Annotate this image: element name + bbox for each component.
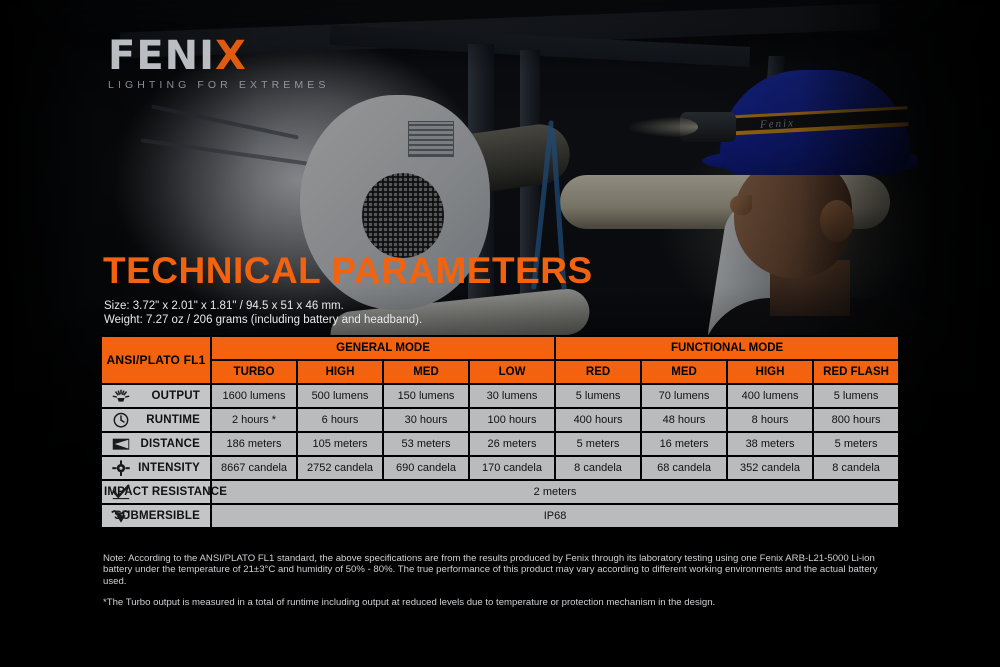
cell-runtime-5: 48 hours xyxy=(642,409,726,431)
cell-runtime-7: 800 hours xyxy=(814,409,898,431)
cell-distance-0: 186 meters xyxy=(212,433,296,455)
cell-output-3: 30 lumens xyxy=(470,385,554,407)
row-label-impact-resistance: IMPACT RESISTANCE xyxy=(102,481,210,503)
row-label-intensity: INTENSITY xyxy=(102,457,210,479)
table-row: OUTPUT1600 lumens500 lumens150 lumens30 … xyxy=(102,385,898,407)
cell-intensity-2: 690 candela xyxy=(384,457,468,479)
table-row: SUBMERSIBLEIP68 xyxy=(102,505,898,527)
table-group-header-row: ANSI/PLATO FL1GENERAL MODEFUNCTIONAL MOD… xyxy=(102,337,898,359)
cell-distance-5: 16 meters xyxy=(642,433,726,455)
fenix-logo: FENIX LIGHTING FOR EXTREMES xyxy=(108,36,329,91)
cell-intensity-7: 8 candela xyxy=(814,457,898,479)
row-label-distance: DISTANCE xyxy=(102,433,210,455)
spec-size: Size: 3.72" x 2.01" x 1.81" / 94.5 x 51 … xyxy=(104,300,422,314)
cell-output-0: 1600 lumens xyxy=(212,385,296,407)
cell-submersible-value: IP68 xyxy=(212,505,898,527)
logo-wordmark: FENIX xyxy=(108,36,329,76)
cell-intensity-5: 68 candela xyxy=(642,457,726,479)
cell-output-7: 5 lumens xyxy=(814,385,898,407)
table-row: RUNTIME2 hours *6 hours30 hours100 hours… xyxy=(102,409,898,431)
clock-icon xyxy=(110,411,132,429)
cell-output-4: 5 lumens xyxy=(556,385,640,407)
cell-output-6: 400 lumens xyxy=(728,385,812,407)
cell-distance-3: 26 meters xyxy=(470,433,554,455)
column-header-4: RED xyxy=(556,361,640,383)
sunburst-icon xyxy=(110,387,132,405)
cell-runtime-6: 8 hours xyxy=(728,409,812,431)
cell-runtime-2: 30 hours xyxy=(384,409,468,431)
group-header-functional-mode: FUNCTIONAL MODE xyxy=(556,337,898,359)
cell-runtime-0: 2 hours * xyxy=(212,409,296,431)
crosshair-intensity-icon xyxy=(110,459,132,477)
impact-check-icon xyxy=(110,483,132,501)
cell-intensity-4: 8 candela xyxy=(556,457,640,479)
column-header-2: MED xyxy=(384,361,468,383)
logo-accent-x: X xyxy=(215,33,247,79)
cell-distance-4: 5 meters xyxy=(556,433,640,455)
cell-distance-7: 5 meters xyxy=(814,433,898,455)
table-body: ANSI/PLATO FL1GENERAL MODEFUNCTIONAL MOD… xyxy=(102,337,898,527)
table-row: IMPACT RESISTANCE2 meters xyxy=(102,481,898,503)
cell-runtime-3: 100 hours xyxy=(470,409,554,431)
column-header-3: LOW xyxy=(470,361,554,383)
cell-distance-2: 53 meters xyxy=(384,433,468,455)
row-label-runtime: RUNTIME xyxy=(102,409,210,431)
cell-output-2: 150 lumens xyxy=(384,385,468,407)
column-header-6: HIGH xyxy=(728,361,812,383)
specifications-table: ANSI/PLATO FL1GENERAL MODEFUNCTIONAL MOD… xyxy=(100,335,900,529)
logo-word-text: FENI xyxy=(108,33,215,79)
footnote-turbo: *The Turbo output is measured in a total… xyxy=(103,597,893,608)
cell-distance-6: 38 meters xyxy=(728,433,812,455)
table-row: INTENSITY8667 candela2752 candela690 can… xyxy=(102,457,898,479)
spec-weight: Weight: 7.27 oz / 206 grams (including b… xyxy=(104,314,422,328)
column-header-0: TURBO xyxy=(212,361,296,383)
spec-summary: Size: 3.72" x 2.01" x 1.81" / 94.5 x 51 … xyxy=(104,300,422,327)
table-corner-label: ANSI/PLATO FL1 xyxy=(102,337,210,383)
row-label-submersible: SUBMERSIBLE xyxy=(102,505,210,527)
cell-intensity-3: 170 candela xyxy=(470,457,554,479)
cell-output-1: 500 lumens xyxy=(298,385,382,407)
column-header-7: RED FLASH xyxy=(814,361,898,383)
product-spec-poster: Fenix FENIX LIGHTING FOR EXTREMES TECHNI… xyxy=(0,0,1000,667)
column-header-5: MED xyxy=(642,361,726,383)
group-header-general-mode: GENERAL MODE xyxy=(212,337,554,359)
column-header-1: HIGH xyxy=(298,361,382,383)
logo-tagline: LIGHTING FOR EXTREMES xyxy=(108,79,329,91)
page-title: TECHNICAL PARAMETERS xyxy=(103,252,593,289)
cell-output-5: 70 lumens xyxy=(642,385,726,407)
footnote-standard: Note: According to the ANSI/PLATO FL1 st… xyxy=(103,553,893,587)
cell-runtime-1: 6 hours xyxy=(298,409,382,431)
cell-intensity-1: 2752 candela xyxy=(298,457,382,479)
water-wave-icon xyxy=(110,507,132,525)
table-column-header-row: TURBOHIGHMEDLOWREDMEDHIGHRED FLASH xyxy=(102,361,898,383)
table-row: DISTANCE186 meters105 meters53 meters26 … xyxy=(102,433,898,455)
cell-intensity-6: 352 candela xyxy=(728,457,812,479)
cell-impact-resistance-value: 2 meters xyxy=(212,481,898,503)
cell-intensity-0: 8667 candela xyxy=(212,457,296,479)
row-label-output: OUTPUT xyxy=(102,385,210,407)
beam-distance-icon xyxy=(110,435,132,453)
cell-runtime-4: 400 hours xyxy=(556,409,640,431)
cell-distance-1: 105 meters xyxy=(298,433,382,455)
